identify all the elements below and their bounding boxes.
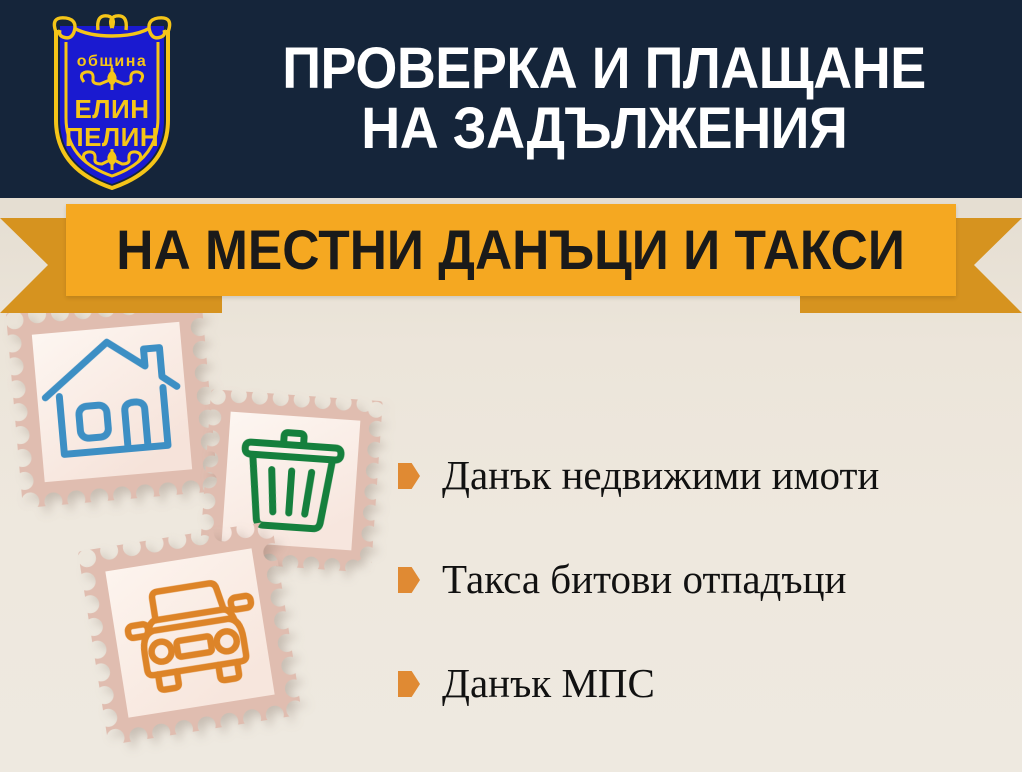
header-title: ПРОВЕРКА И ПЛАЩАНЕ НА ЗАДЪЛЖЕНИЯ xyxy=(186,0,1022,198)
list-item-label: Такса битови отпадъци xyxy=(442,557,846,602)
header-bar: община ЕЛИН ПЕЛИН xyxy=(0,0,1022,198)
list-item[interactable]: Такса битови отпадъци xyxy=(398,528,1008,632)
arrow-bullet-icon xyxy=(398,463,420,489)
ribbon-banner: НА МЕСТНИ ДАНЪЦИ И ТАКСИ xyxy=(0,198,1022,313)
list-item-label: Данък МПС xyxy=(442,661,655,706)
stamp-collage xyxy=(0,300,400,772)
list-item-label: Данък недвижими имоти xyxy=(442,453,879,498)
municipality-logo: община ЕЛИН ПЕЛИН xyxy=(38,8,186,190)
arrow-bullet-icon xyxy=(398,671,420,697)
stamp-car xyxy=(78,521,302,745)
svg-text:ПЕЛИН: ПЕЛИН xyxy=(65,122,159,152)
title-line-2: НА ЗАДЪЛЖЕНИЯ xyxy=(361,99,847,159)
svg-text:ЕЛИН: ЕЛИН xyxy=(74,94,149,124)
list-item[interactable]: Данък МПС xyxy=(398,632,1008,736)
ribbon-text: НА МЕСТНИ ДАНЪЦИ И ТАКСИ xyxy=(117,222,906,278)
arrow-bullet-icon xyxy=(398,567,420,593)
list-item[interactable]: Данък недвижими имоти xyxy=(398,424,1008,528)
title-line-1: ПРОВЕРКА И ПЛАЩАНЕ xyxy=(282,39,926,99)
poster-canvas: община ЕЛИН ПЕЛИН xyxy=(0,0,1022,772)
stamp-house xyxy=(6,296,218,508)
svg-text:община: община xyxy=(77,53,148,70)
ribbon-band: НА МЕСТНИ ДАНЪЦИ И ТАКСИ xyxy=(66,204,956,296)
tax-types-list: Данък недвижими имоти Такса битови отпад… xyxy=(398,424,1008,736)
